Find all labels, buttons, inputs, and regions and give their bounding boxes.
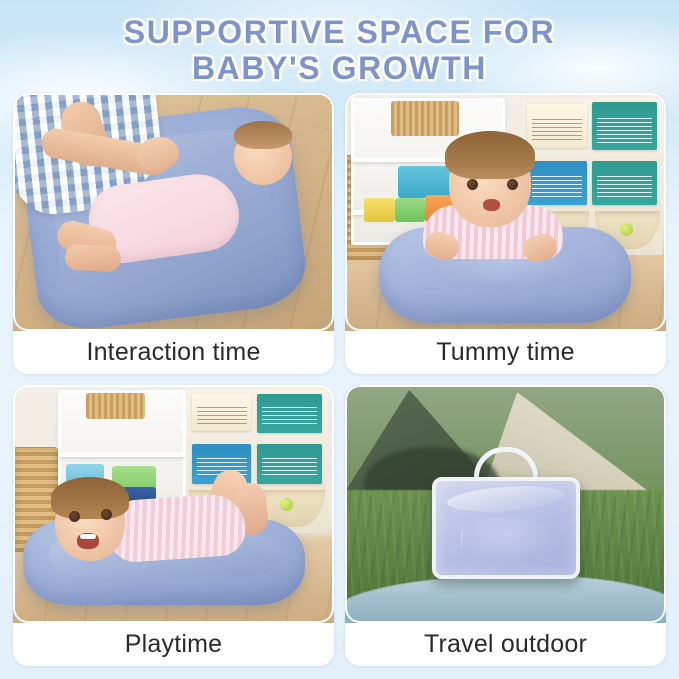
page-title: SUPPORTIVE SPACE FOR BABY'S GROWTH bbox=[0, 14, 679, 86]
baby-open-mouth bbox=[77, 533, 99, 549]
baby-hair bbox=[234, 121, 292, 149]
baby-eye-left bbox=[69, 511, 80, 522]
caption-interaction-time: Interaction time bbox=[13, 331, 334, 374]
green-ball bbox=[280, 498, 293, 511]
storage-basket bbox=[391, 101, 459, 136]
feature-card-grid: Interaction time bbox=[13, 93, 666, 666]
baby-eye-left bbox=[467, 179, 478, 190]
baby-eye-right bbox=[101, 509, 112, 520]
clear-carry-bag-with-lounger bbox=[432, 477, 580, 579]
title-line-1: SUPPORTIVE SPACE FOR bbox=[0, 14, 679, 50]
caption-travel-outdoor: Travel outdoor bbox=[345, 623, 666, 666]
baby-hair bbox=[445, 131, 535, 179]
feature-card-travel-outdoor[interactable]: Travel outdoor bbox=[345, 385, 666, 666]
poster-cream bbox=[527, 104, 586, 148]
photo-tummy-time bbox=[345, 93, 666, 331]
poster-teal-bottom bbox=[592, 161, 657, 205]
poster-teal-bottom bbox=[257, 444, 322, 484]
toy-cylinder-blue bbox=[398, 166, 450, 198]
poster-blue bbox=[527, 161, 586, 205]
caption-tummy-time: Tummy time bbox=[345, 331, 666, 374]
poster-teal-top bbox=[257, 394, 322, 433]
photo-playtime bbox=[13, 385, 334, 623]
baby-leg-right bbox=[64, 244, 121, 273]
feature-card-tummy-time[interactable]: Tummy time bbox=[345, 93, 666, 374]
caption-label: Travel outdoor bbox=[424, 630, 587, 659]
poster-cream bbox=[192, 394, 251, 431]
baby-eye-right bbox=[507, 179, 518, 190]
caption-label: Playtime bbox=[125, 630, 222, 659]
caption-playtime: Playtime bbox=[13, 623, 334, 666]
photo-interaction-time bbox=[13, 93, 334, 331]
title-line-2: BABY'S GROWTH bbox=[0, 50, 679, 86]
baby-mouth bbox=[483, 199, 500, 211]
caption-label: Interaction time bbox=[86, 338, 260, 367]
poster-teal-top bbox=[592, 102, 657, 149]
toy-cube-yellow bbox=[364, 198, 395, 222]
caption-label: Tummy time bbox=[436, 338, 575, 367]
toy-cube-green bbox=[395, 198, 426, 222]
baby-hair bbox=[51, 477, 129, 519]
shelf-bar bbox=[58, 452, 186, 457]
feature-card-interaction-time[interactable]: Interaction time bbox=[13, 93, 334, 374]
storage-basket bbox=[86, 393, 145, 420]
photo-travel-outdoor bbox=[345, 385, 666, 623]
feature-card-playtime[interactable]: Playtime bbox=[13, 385, 334, 666]
